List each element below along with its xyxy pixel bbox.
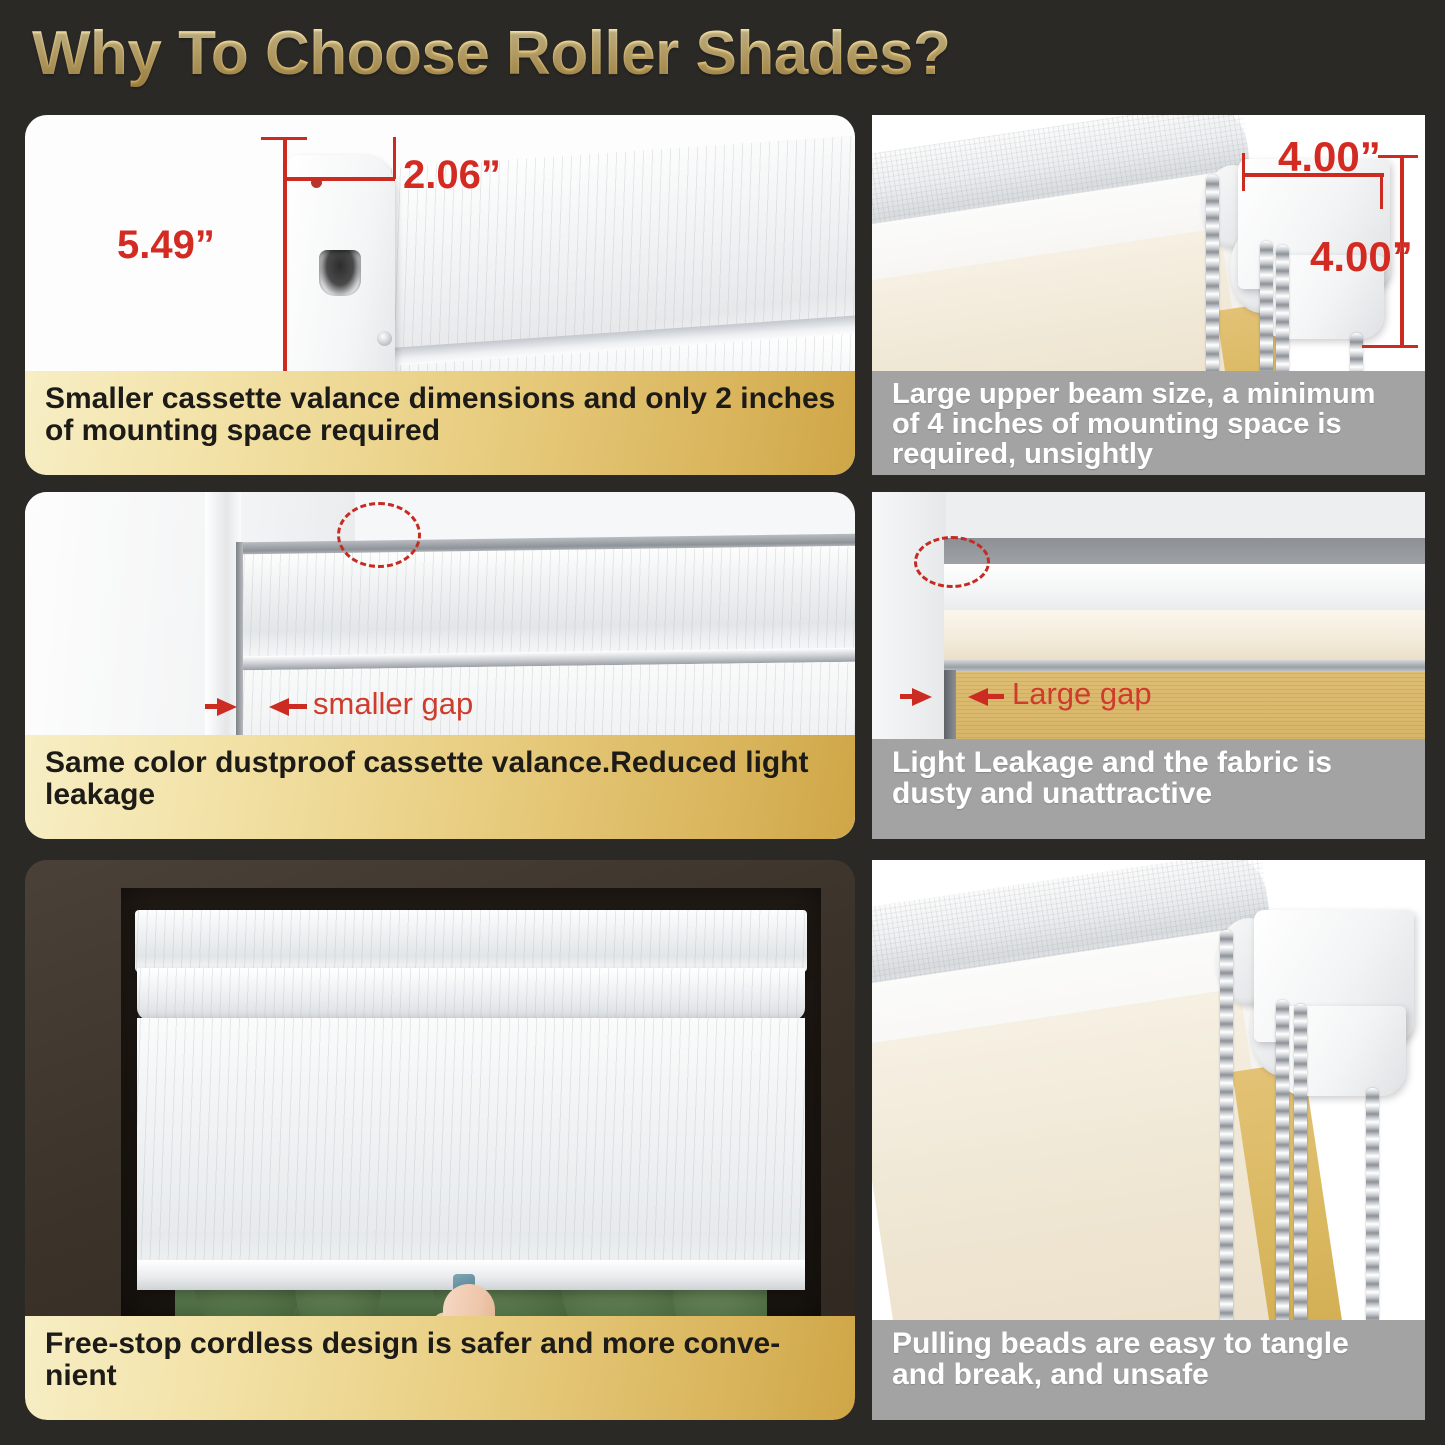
gap-callout-label: Large gap xyxy=(1012,676,1152,712)
panel-bad-large-beam: 4.00” 4.00” Large upper beam size, a min… xyxy=(872,115,1425,475)
width-dimension-label: 2.06” xyxy=(403,153,501,198)
gap-callout-label: smaller gap xyxy=(313,686,473,722)
shade-fabric xyxy=(137,1018,805,1290)
caption-good-dustproof-valance: Same color dustproof cassette valance.Re… xyxy=(25,735,855,839)
caption-bad-light-leakage: Light Leakage and the fabric is dusty an… xyxy=(872,739,1425,839)
highlight-circle xyxy=(914,536,990,588)
panel-good-cassette-dimensions: 2.06” 5.49” Smaller cassette valance dim… xyxy=(25,115,855,475)
panel-bad-bead-chain: Pulling beads are easy to tangle and bre… xyxy=(872,860,1425,1420)
caption-bad-large-beam: Large upper beam size, a minimum of 4 in… xyxy=(872,371,1425,475)
height-dimension-label: 5.49” xyxy=(117,223,215,268)
page-title: Why To Choose Roller Shades? xyxy=(32,18,950,89)
cassette-lower xyxy=(137,968,805,1020)
valance-slot xyxy=(319,250,361,296)
infographic-page: Why To Choose Roller Shades? 2.06” 5.49”… xyxy=(0,0,1445,1445)
caption-good-cassette-dimensions: Smaller cassette valance dimensions and … xyxy=(25,371,855,475)
caption-good-cordless-design: Free-stop cordless design is safer and m… xyxy=(25,1316,855,1420)
caption-line-2: nient xyxy=(45,1359,117,1392)
bead-chain xyxy=(1220,930,1233,1380)
gap-arrow-right xyxy=(269,698,289,716)
panel-bad-light-leakage: Large gap Light Leakage and the fabric i… xyxy=(872,492,1425,839)
screw-icon xyxy=(377,331,392,346)
caption-line-1: Free-stop cordless design is safer and m… xyxy=(45,1327,780,1360)
highlight-circle xyxy=(337,502,421,568)
caption-bad-bead-chain: Pulling beads are easy to tangle and bre… xyxy=(872,1320,1425,1420)
gap-arrow-right xyxy=(968,688,988,706)
cassette-valance xyxy=(135,910,807,972)
panel-good-dustproof-valance: smaller gap Same color dustproof cassett… xyxy=(25,492,855,839)
height-dimension-label: 4.00” xyxy=(1310,233,1413,281)
panel-good-cordless-design: Free-stop cordless design is safer and m… xyxy=(25,860,855,1420)
cassette-valance xyxy=(241,546,855,665)
width-dimension-label: 4.00” xyxy=(1278,133,1381,181)
